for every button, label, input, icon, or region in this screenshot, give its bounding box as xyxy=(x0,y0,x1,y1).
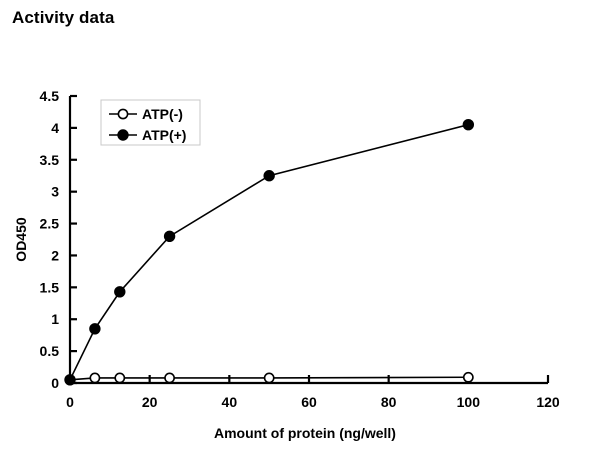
data-point-marker xyxy=(264,171,274,181)
x-tick-label: 20 xyxy=(142,394,158,410)
y-tick-label: 2 xyxy=(51,247,59,263)
y-tick-label: 1.5 xyxy=(40,279,60,295)
chart-figure: 00.511.522.533.544.5 020406080100120 ATP… xyxy=(0,0,607,461)
chart-legend[interactable]: ATP(-)ATP(+) xyxy=(101,100,200,145)
y-tick-label: 4.5 xyxy=(40,88,60,104)
y-tick-label: 1 xyxy=(51,311,59,327)
data-point-marker xyxy=(464,373,473,382)
data-point-marker xyxy=(463,120,473,130)
open-circle-icon xyxy=(118,109,127,118)
x-tick-label: 100 xyxy=(457,394,481,410)
x-tick-label: 80 xyxy=(381,394,397,410)
y-axis-ticks: 00.511.522.533.544.5 xyxy=(40,88,77,391)
y-tick-label: 0.5 xyxy=(40,343,60,359)
x-tick-label: 120 xyxy=(536,394,560,410)
data-point-marker xyxy=(90,373,99,382)
x-tick-label: 40 xyxy=(222,394,238,410)
data-point-marker xyxy=(265,373,274,382)
y-axis-label: OD450 xyxy=(13,217,29,262)
x-axis-label: Amount of protein (ng/well) xyxy=(214,425,396,441)
x-axis-ticks: 020406080100120 xyxy=(66,375,560,410)
legend-entry-label: ATP(-) xyxy=(142,106,183,122)
data-series xyxy=(65,120,474,386)
chart-svg: 00.511.522.533.544.5 020406080100120 ATP… xyxy=(0,0,607,461)
series-2 xyxy=(65,120,474,386)
data-point-marker xyxy=(115,287,125,297)
data-point-marker xyxy=(165,373,174,382)
y-tick-label: 4 xyxy=(51,120,59,136)
y-tick-label: 2.5 xyxy=(40,216,60,232)
x-tick-label: 0 xyxy=(66,394,74,410)
y-tick-label: 3 xyxy=(51,184,59,200)
data-point-marker xyxy=(164,231,174,241)
data-point-marker xyxy=(65,375,75,385)
data-point-marker xyxy=(115,373,124,382)
series-line xyxy=(70,125,468,380)
y-tick-label: 0 xyxy=(51,375,59,391)
data-point-marker xyxy=(90,324,100,334)
y-tick-label: 3.5 xyxy=(40,152,60,168)
x-tick-label: 60 xyxy=(301,394,317,410)
legend-entry-label: ATP(+) xyxy=(142,127,186,143)
filled-circle-icon xyxy=(118,130,128,140)
